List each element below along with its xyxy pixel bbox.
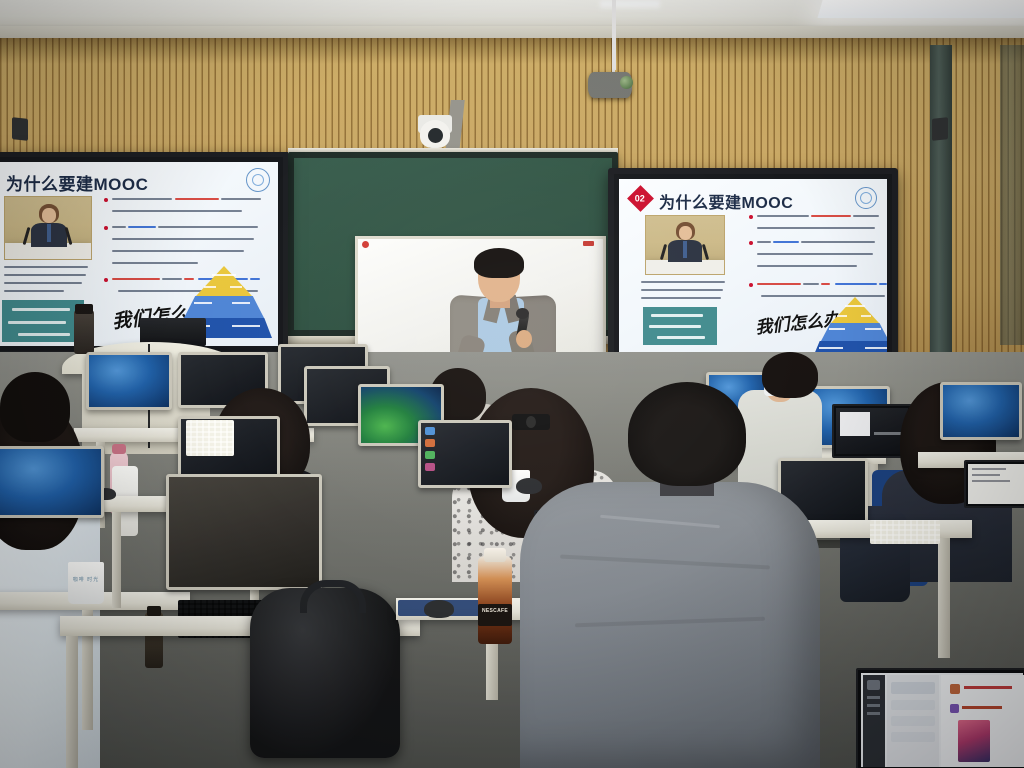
projection-screen-right[interactable]: 02 为什么要建MOOC	[608, 168, 898, 370]
backpack-handle	[300, 580, 366, 613]
nescafe-bottle	[478, 556, 512, 644]
pyramid-top-tier	[196, 266, 252, 296]
wall-column-far-right	[1000, 45, 1024, 345]
thermos-cap	[75, 304, 93, 314]
paper-cup-text: 咖啡 时光	[68, 576, 104, 583]
camera-lens-icon	[428, 128, 443, 143]
thermos-bottle	[74, 310, 94, 354]
slide-right: 02 为什么要建MOOC	[619, 179, 887, 359]
desk-leg	[938, 538, 950, 658]
whiteboard-logo-left-icon	[362, 241, 369, 248]
keyboard[interactable]	[870, 520, 940, 544]
dark-bottle-cap	[147, 606, 161, 616]
projector-mount-pole	[612, 0, 616, 70]
student-left-white-head	[0, 372, 70, 442]
nescafe-bottle-cap	[484, 548, 506, 562]
computer-mouse[interactable]	[516, 478, 542, 494]
pyramid-top-tier	[831, 297, 879, 323]
wall-speaker-left	[12, 117, 28, 141]
monitor[interactable]	[0, 446, 104, 518]
student-foreground-head	[628, 382, 746, 486]
classroom-photo-scene: 为什么要建MOOC	[0, 0, 1024, 768]
keyboard[interactable]	[186, 420, 234, 456]
projector-lens-icon	[620, 76, 633, 89]
presenter-hair	[474, 248, 524, 278]
slide-right-title: 为什么要建MOOC	[659, 189, 793, 213]
monitor[interactable]	[940, 382, 1022, 440]
fluorescent-ceiling-light-secondary	[600, 0, 660, 8]
computer-mouse[interactable]	[424, 600, 454, 618]
whiteboard-logo-right-icon	[583, 241, 594, 246]
laptop-chat-app[interactable]	[856, 668, 1024, 768]
slide-left-teal-box	[2, 300, 84, 342]
university-seal-inner-icon	[252, 174, 264, 186]
hair-bow-knot	[526, 416, 536, 428]
wall-column-right	[930, 45, 952, 365]
paper-cup	[68, 562, 104, 604]
university-seal-inner-icon	[860, 192, 872, 204]
monitor[interactable]	[418, 420, 512, 488]
student-masked-hair	[762, 352, 818, 398]
pyramid-mid-band	[184, 296, 264, 318]
slide-right-photo	[645, 215, 725, 275]
nescafe-label-text: NESCAFE	[478, 608, 512, 614]
microphone-head-icon	[516, 308, 529, 319]
pyramid-mid-band	[821, 323, 887, 341]
wall-top-shadow	[0, 38, 1024, 64]
student-foreground-body	[520, 482, 820, 768]
slide-left-photo	[4, 196, 92, 260]
desk-leg	[112, 512, 121, 608]
monitor[interactable]	[86, 352, 172, 410]
fluorescent-ceiling-light	[817, 0, 1024, 18]
backpack	[250, 588, 400, 758]
presenter-right-hand	[516, 330, 532, 348]
wall-speaker-right	[932, 117, 948, 141]
slide-left: 为什么要建MOOC	[0, 162, 278, 346]
desk-leg	[66, 636, 78, 768]
laptop[interactable]	[964, 460, 1024, 508]
slide-left-title: 为什么要建MOOC	[6, 170, 148, 195]
slide-right-badge: 02	[627, 185, 654, 212]
monitor[interactable]	[166, 474, 322, 590]
pink-bottle-cap	[112, 444, 126, 454]
slide-right-teal-box	[643, 307, 717, 345]
